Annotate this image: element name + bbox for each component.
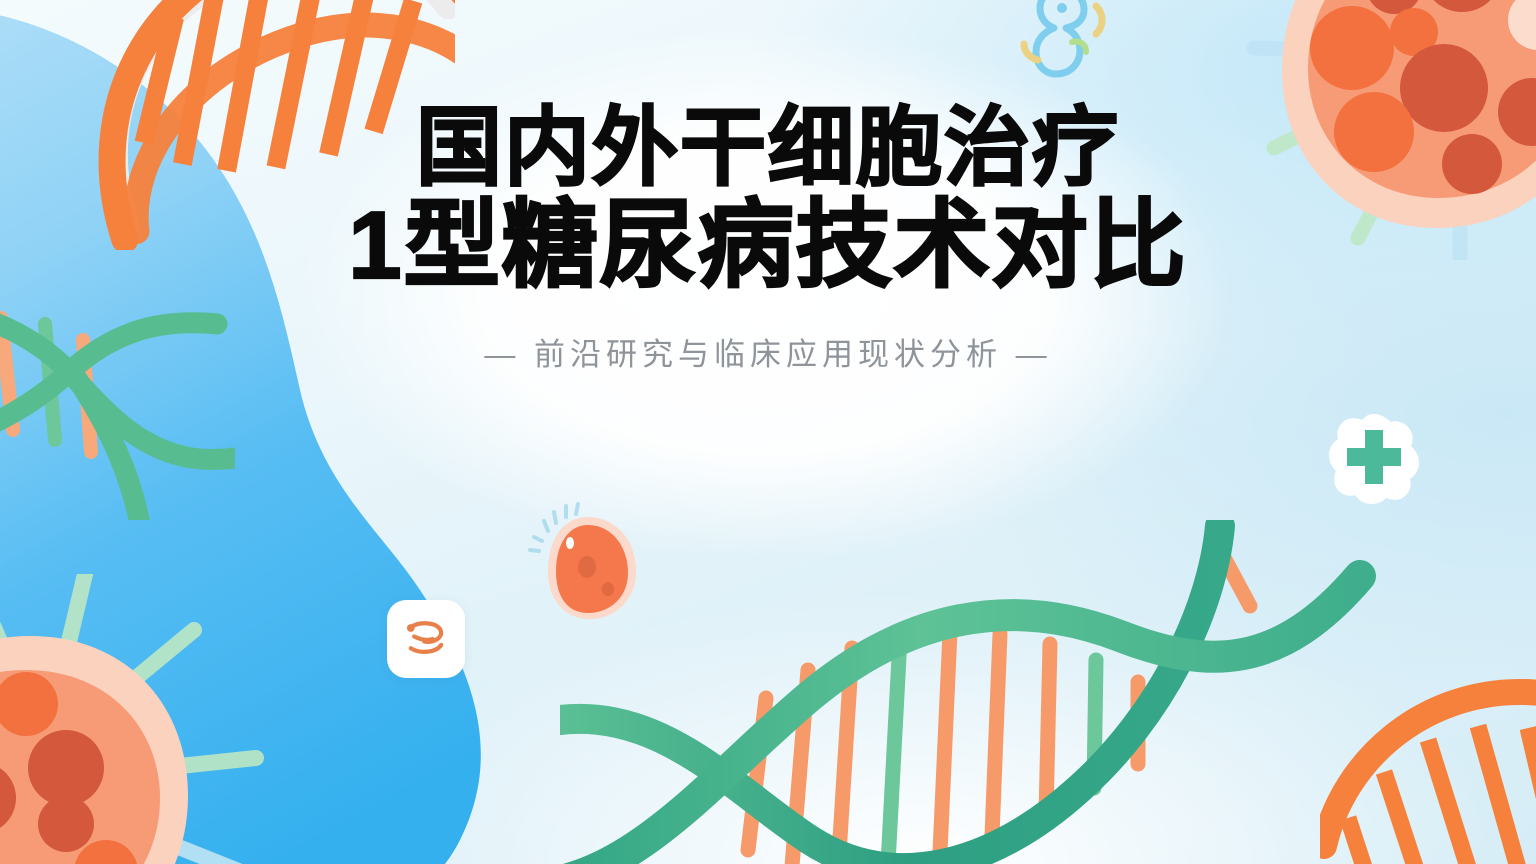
logo-swirl-icon [399, 612, 453, 666]
title-block: 国内外干细胞治疗 1型糖尿病技术对比 — 前沿研究与临床应用现状分析 — [0, 104, 1536, 374]
page-title-line-2: 1型糖尿病技术对比 [0, 197, 1536, 296]
page-title-line-1: 国内外干细胞治疗 [0, 104, 1536, 193]
pancreas-icon [520, 495, 670, 635]
dna-helix-icon-bottom-center [560, 520, 1400, 864]
slide-canvas: 国内外干细胞治疗 1型糖尿病技术对比 — 前沿研究与临床应用现状分析 — [0, 0, 1536, 864]
microbe-icon [1010, 0, 1120, 92]
medical-cross-icon[interactable] [1325, 408, 1423, 506]
page-subtitle: — 前沿研究与临床应用现状分析 — [0, 329, 1536, 374]
dna-helix-icon-bottom-right [1320, 630, 1536, 864]
cell-cluster-icon-bottom-left [0, 574, 280, 864]
brand-logo-icon[interactable] [387, 600, 465, 678]
